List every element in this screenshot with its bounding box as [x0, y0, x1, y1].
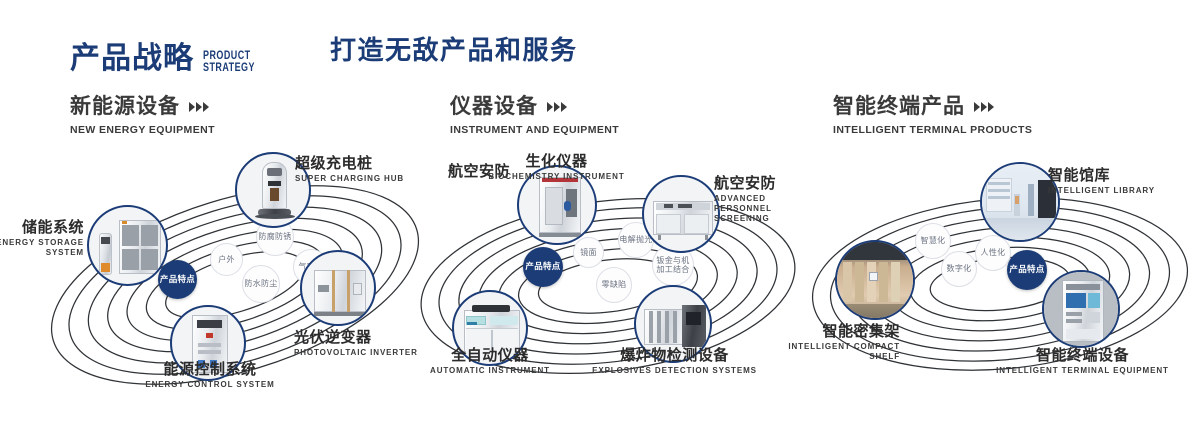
section-title-cn: 仪器设备 — [450, 94, 538, 119]
cluster-intelligent-terminal: 智慧化 数字化 人性化 产品特点 智能馆库 INTELLIGENT LIBRAR… — [800, 150, 1200, 415]
caption-cn: 航空安防 — [714, 174, 812, 192]
brand-title-en: PRODUCT STRATEGY — [203, 50, 255, 74]
caption-en: BIOCHEMISTRY INSTRUMENT — [474, 172, 639, 182]
feature-bubble: 智慧化 — [915, 223, 951, 259]
personnel-screening-icon — [644, 177, 718, 251]
feature-bubble: 人性化 — [975, 235, 1011, 271]
caption-en: EXPLOSIVES DETECTION SYSTEMS — [562, 366, 787, 376]
brand-en-line-1: PRODUCT — [203, 50, 255, 62]
product-caption-energy-storage: 储能系统 ENERGY STORAGE SYSTEM — [0, 218, 84, 258]
product-caption-intelligent-library: 智能馆库 INTELLIGENT LIBRARY — [1048, 166, 1155, 196]
cluster-instrument: 产品特点 镜面 电解抛光 钣金与机加工结合 零缺陷 航空安防 生化仪器 BIOC… — [412, 150, 812, 415]
caption-cn: 智能密集架 — [760, 322, 900, 340]
caption-cn: 生化仪器 — [474, 152, 639, 170]
product-node-energy-storage[interactable] — [87, 205, 168, 286]
section-title-en: INTELLIGENT TERMINAL PRODUCTS — [833, 124, 1032, 136]
product-caption-energy-control-system: 能源控制系统 ENERGY CONTROL SYSTEM — [85, 360, 335, 390]
caption-en: ENERGY CONTROL SYSTEM — [85, 380, 335, 390]
product-node-compact-shelf[interactable] — [835, 240, 915, 320]
chevron-right-icon — [974, 102, 994, 112]
product-node-terminal-kiosk[interactable] — [1042, 270, 1120, 348]
caption-en: ADVANCED PERSONNEL SCREENING — [714, 194, 812, 224]
energy-storage-cabinet-icon — [89, 207, 166, 284]
cluster-new-energy: 产品特点 户外 防腐防锈 防水防尘 气密性 储能系统 ENERGY STORAG… — [30, 150, 430, 415]
section-title-en: INSTRUMENT AND EQUIPMENT — [450, 124, 619, 136]
caption-en: INTELLIGENT TERMINAL EQUIPMENT — [980, 366, 1185, 376]
caption-cn: 能源控制系统 — [85, 360, 335, 378]
brand-title-cn: 产品战略 — [70, 42, 194, 76]
product-caption-super-charging-hub: 超级充电桩 SUPER CHARGING HUB — [295, 154, 404, 184]
brand-en-line-2: STRATEGY — [203, 62, 255, 74]
product-node-photovoltaic-inverter[interactable] — [300, 250, 376, 326]
product-caption-compact-shelf: 智能密集架 INTELLIGENT COMPACT SHELF — [760, 322, 900, 362]
section-heading-intelligent-terminal: 智能终端产品 INTELLIGENT TERMINAL PRODUCTS — [833, 94, 1032, 136]
caption-cn: 爆炸物检测设备 — [562, 346, 787, 364]
caption-cn: 智能馆库 — [1048, 166, 1155, 184]
core-bubble: 产品特点 — [523, 247, 563, 287]
caption-en: INTELLIGENT LIBRARY — [1048, 186, 1155, 196]
product-caption-automatic-instrument: 全自动仪器 AUTOMATIC INSTRUMENT — [400, 346, 580, 376]
caption-cn: 超级充电桩 — [295, 154, 404, 172]
feature-bubble: 零缺陷 — [596, 267, 632, 303]
terminal-kiosk-icon — [1044, 272, 1118, 346]
product-caption-biochemistry-instrument: 生化仪器 BIOCHEMISTRY INSTRUMENT — [474, 152, 639, 182]
caption-en: SUPER CHARGING HUB — [295, 174, 404, 184]
compact-shelf-icon — [837, 242, 913, 318]
section-title-en: NEW ENERGY EQUIPMENT — [70, 124, 215, 136]
product-strategy-infographic: 产品战略 PRODUCT STRATEGY 打造无敌产品和服务 新能源设备 NE… — [0, 0, 1200, 422]
section-title-cn: 新能源设备 — [70, 94, 180, 119]
product-caption-explosives-detector: 爆炸物检测设备 EXPLOSIVES DETECTION SYSTEMS — [562, 346, 787, 376]
photovoltaic-inverter-icon — [302, 252, 374, 324]
brand-header: 产品战略 PRODUCT STRATEGY — [70, 26, 270, 76]
caption-cn: 全自动仪器 — [400, 346, 580, 364]
caption-cn: 光伏逆变器 — [294, 328, 418, 346]
feature-bubble: 防水防尘 — [242, 265, 280, 303]
section-heading-new-energy: 新能源设备 NEW ENERGY EQUIPMENT — [70, 94, 215, 136]
product-node-personnel-screening[interactable] — [642, 175, 720, 253]
caption-cn: 储能系统 — [0, 218, 84, 236]
caption-en: INTELLIGENT COMPACT SHELF — [760, 342, 900, 362]
caption-en: AUTOMATIC INSTRUMENT — [400, 366, 580, 376]
section-heading-instrument: 仪器设备 INSTRUMENT AND EQUIPMENT — [450, 94, 619, 136]
feature-bubble: 数字化 — [941, 251, 977, 287]
intelligent-library-icon — [982, 164, 1058, 240]
section-title-cn: 智能终端产品 — [833, 94, 965, 119]
product-caption-terminal-kiosk: 智能终端设备 INTELLIGENT TERMINAL EQUIPMENT — [980, 346, 1185, 376]
chevron-right-icon — [189, 102, 209, 112]
caption-cn: 智能终端设备 — [980, 346, 1185, 364]
caption-en: ENERGY STORAGE SYSTEM — [0, 238, 84, 258]
feature-bubble: 户外 — [210, 243, 243, 276]
core-bubble: 产品特点 — [1007, 250, 1047, 290]
product-caption-personnel-screening: 航空安防 ADVANCED PERSONNEL SCREENING — [714, 174, 812, 224]
chevron-right-icon — [547, 102, 567, 112]
header-slogan: 打造无敌产品和服务 — [330, 36, 578, 66]
